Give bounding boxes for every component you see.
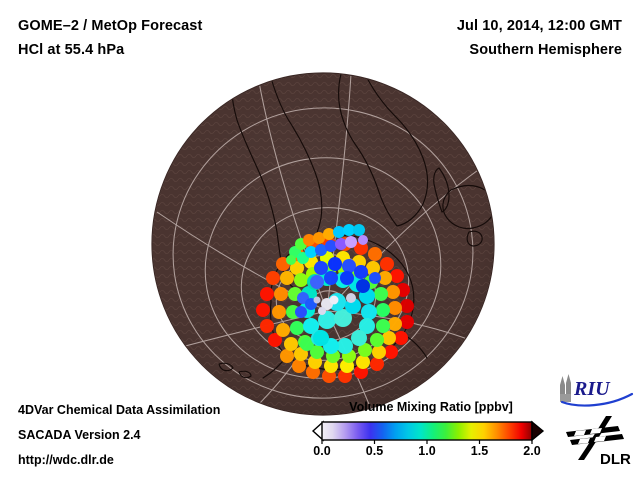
dlr-logo: DLR (562, 414, 638, 468)
title-instrument: GOME–2 / MetOp Forecast (18, 18, 202, 34)
dlr-wordmark: DLR (600, 451, 631, 468)
colorbar-tick-2: 1.0 (418, 444, 435, 458)
colorbar-tick-1: 0.5 (366, 444, 383, 458)
figure-canvas: GOME–2 / MetOp Forecast HCl at 55.4 hPa … (0, 0, 640, 480)
title-datetime: Jul 10, 2014, 12:00 GMT (457, 18, 622, 34)
colorbar (310, 418, 546, 444)
colorbar-tick-3: 1.5 (471, 444, 488, 458)
riu-logo: RIU (556, 374, 636, 408)
colorbar-tick-0: 0.0 (313, 444, 330, 458)
colorbar-extend-high (532, 422, 543, 440)
riu-towers-icon (560, 374, 571, 402)
footer-method: 4DVar Chemical Data Assimilation (18, 403, 220, 417)
colorbar-title: Volume Mixing Ratio [ppbv] (318, 400, 544, 414)
colorbar-tick-4: 2.0 (523, 444, 540, 458)
footer-url[interactable]: http://wdc.dlr.de (18, 453, 114, 467)
colorbar-gradient (322, 422, 532, 440)
title-species: HCl at 55.4 hPa (18, 42, 124, 58)
footer-version: SACADA Version 2.4 (18, 428, 141, 442)
colorbar-tick-labels: 0.0 0.5 1.0 1.5 2.0 (310, 444, 546, 464)
globe-map (151, 72, 495, 416)
riu-wordmark: RIU (573, 378, 611, 400)
title-region: Southern Hemisphere (469, 42, 622, 58)
